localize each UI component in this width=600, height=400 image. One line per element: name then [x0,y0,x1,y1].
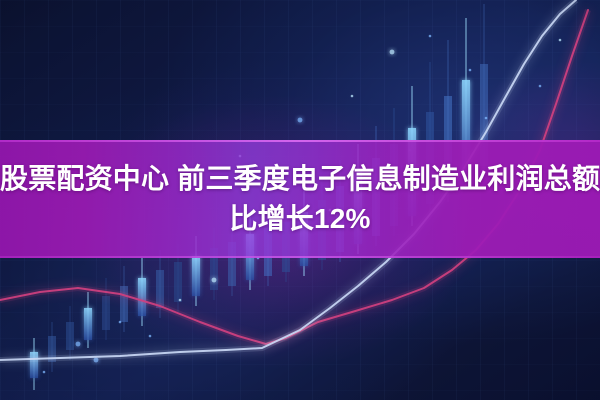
headline-line-1: 股票配资中心 前三季度电子信息制造业利润总额同 [0,160,600,198]
headline-line-2: 比增长12% [0,200,600,238]
banner-image: 股票配资中心 前三季度电子信息制造业利润总额同 比增长12% [0,0,600,400]
headline-text-block: 股票配资中心 前三季度电子信息制造业利润总额同 比增长12% [0,140,600,258]
